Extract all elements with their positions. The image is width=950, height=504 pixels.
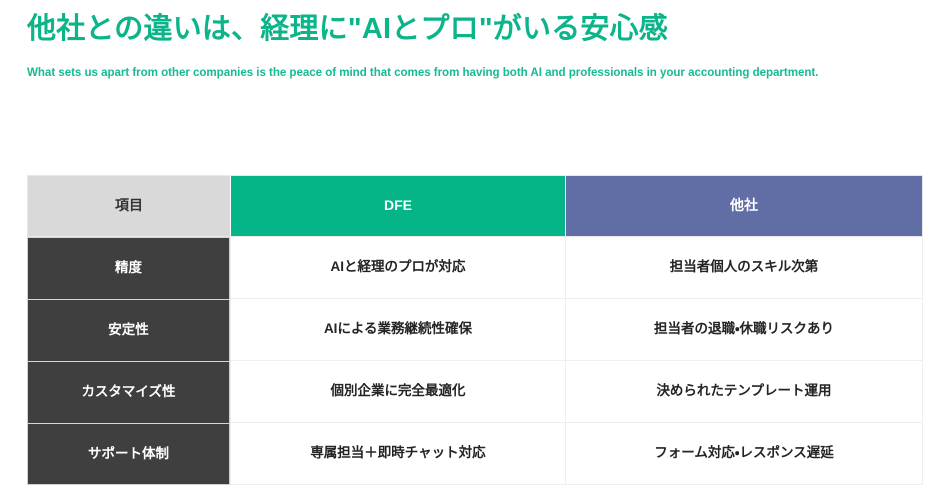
row-dfe-text: 個別企業に完全最適化: [231, 382, 565, 401]
row-label-cell: サポート体制: [27, 423, 230, 485]
row-other-text: 担当者個人のスキル次第: [566, 258, 922, 277]
row-other-cell: 担当者個人のスキル次第: [566, 237, 923, 299]
column-header-item-label: 項目: [28, 196, 230, 216]
column-header-other: 他社: [566, 175, 923, 237]
comparison-table: 項目 DFE 他社 精度 AIと経理のプロが対応 担当者個人のスキル次: [27, 175, 923, 485]
row-dfe-cell: 専属担当＋即時チャット対応: [230, 423, 566, 485]
table-row: サポート体制 専属担当＋即時チャット対応 フォーム対応・レスポンス遅延: [27, 423, 923, 485]
row-label-cell: 精度: [27, 237, 230, 299]
column-header-item: 項目: [27, 175, 230, 237]
table-row: カスタマイズ性 個別企業に完全最適化 決められたテンプレート運用: [27, 361, 923, 423]
column-header-other-label: 他社: [566, 196, 922, 216]
table-row: 安定性 AIによる業務継続性確保 担当者の退職・休職リスクあり: [27, 299, 923, 361]
row-other-text: 決められたテンプレート運用: [566, 382, 922, 401]
row-label-text: 安定性: [28, 321, 229, 340]
row-dfe-text: AIによる業務継続性確保: [231, 320, 565, 339]
table-header-row: 項目 DFE 他社: [27, 175, 923, 237]
comparison-page: 他社との違いは、経理に"AIとプロ"がいる安心感 What sets us ap…: [0, 0, 950, 504]
table-header: 項目 DFE 他社: [27, 175, 923, 237]
row-other-cell: フォーム対応・レスポンス遅延: [566, 423, 923, 485]
row-other-cell: 決められたテンプレート運用: [566, 361, 923, 423]
row-label-text: サポート体制: [28, 445, 229, 464]
table-row: 精度 AIと経理のプロが対応 担当者個人のスキル次第: [27, 237, 923, 299]
row-label-cell: 安定性: [27, 299, 230, 361]
row-dfe-cell: 個別企業に完全最適化: [230, 361, 566, 423]
row-dfe-cell: AIと経理のプロが対応: [230, 237, 566, 299]
row-dfe-text: 専属担当＋即時チャット対応: [231, 444, 565, 463]
row-other-text: フォーム対応・レスポンス遅延: [566, 444, 922, 463]
column-header-dfe-label: DFE: [231, 196, 565, 216]
table-body: 精度 AIと経理のプロが対応 担当者個人のスキル次第 安定性 AIによる業務継続…: [27, 237, 923, 485]
row-label-cell: カスタマイズ性: [27, 361, 230, 423]
page-title: 他社との違いは、経理に"AIとプロ"がいる安心感: [27, 8, 927, 50]
row-label-text: 精度: [28, 259, 229, 278]
row-other-text: 担当者の退職・休職リスクあり: [566, 320, 922, 339]
page-subtitle: What sets us apart from other companies …: [27, 64, 932, 82]
column-header-dfe: DFE: [230, 175, 566, 237]
row-label-text: カスタマイズ性: [28, 383, 229, 402]
row-other-cell: 担当者の退職・休職リスクあり: [566, 299, 923, 361]
row-dfe-cell: AIによる業務継続性確保: [230, 299, 566, 361]
row-dfe-text: AIと経理のプロが対応: [231, 258, 565, 277]
